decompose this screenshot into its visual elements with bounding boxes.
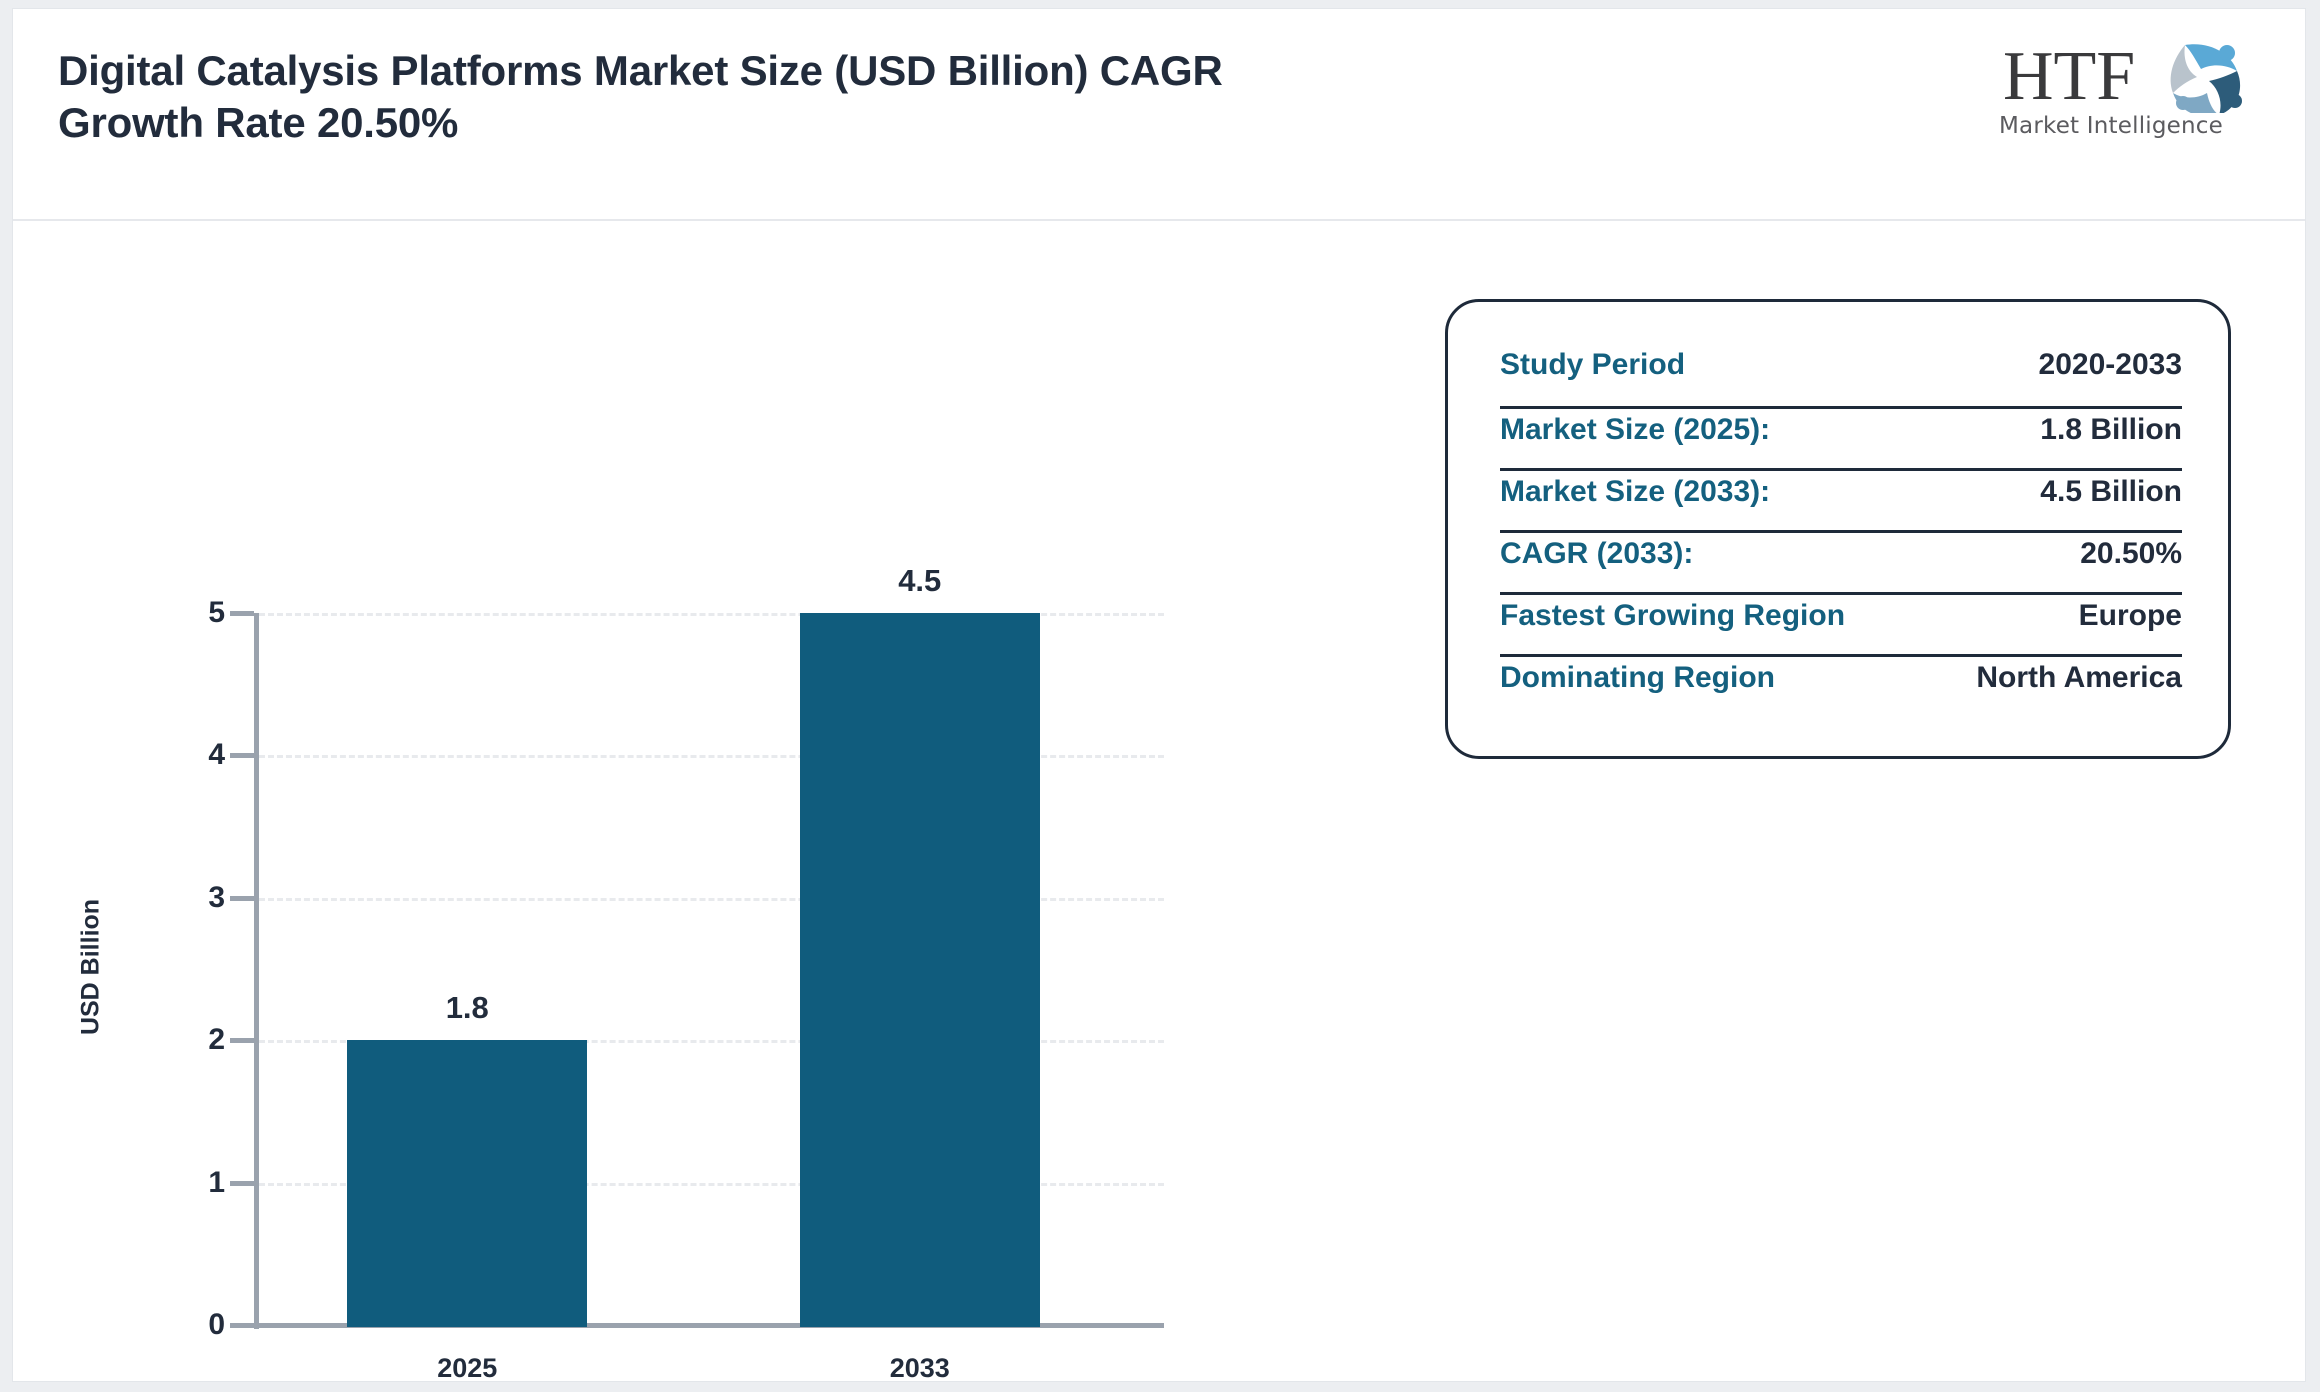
- x-tick-label: 2025: [347, 1353, 587, 1384]
- table-row: Market Size (2033):4.5 Billion: [1500, 468, 2182, 530]
- table-row: Fastest Growing RegionEurope: [1500, 592, 2182, 654]
- row-label: Fastest Growing Region: [1500, 599, 1845, 633]
- row-label: Market Size (2025):: [1500, 413, 1770, 447]
- y-tick-mark: [230, 1323, 254, 1328]
- htf-logo-icon: HTF: [1999, 35, 2259, 113]
- table-row: Market Size (2025):1.8 Billion: [1500, 406, 2182, 468]
- row-value: Europe: [2079, 599, 2182, 633]
- table-row: CAGR (2033):20.50%: [1500, 530, 2182, 592]
- table-row: Dominating RegionNorth America: [1500, 654, 2182, 716]
- y-tick-label: 3: [165, 881, 225, 915]
- header: Digital Catalysis Platforms Market Size …: [13, 9, 2305, 219]
- y-axis-title: USD Billion: [77, 899, 106, 1035]
- bar[interactable]: [800, 613, 1040, 1327]
- x-tick-label: 2033: [800, 1353, 1040, 1384]
- bar-chart: 012345 USD Billion 1.84.5 20252033: [13, 221, 1413, 1381]
- y-tick-label: 2: [165, 1023, 225, 1057]
- bar[interactable]: [347, 1040, 587, 1327]
- y-axis-spine: [254, 613, 259, 1329]
- y-tick-mark: [230, 753, 254, 758]
- row-value: 1.8 Billion: [2040, 413, 2182, 447]
- table-row: Study Period2020-2033: [1500, 344, 2182, 406]
- row-label: Dominating Region: [1500, 661, 1775, 695]
- row-label: Study Period: [1500, 348, 1685, 382]
- bar-value-label: 1.8: [347, 990, 587, 1026]
- row-label: CAGR (2033):: [1500, 537, 1693, 571]
- y-tick-mark: [230, 1181, 254, 1186]
- brand-logo: HTF Market Intelligence: [1999, 35, 2259, 145]
- y-tick-label: 5: [165, 596, 225, 630]
- row-value: 4.5 Billion: [2040, 475, 2182, 509]
- y-tick-label: 1: [165, 1166, 225, 1200]
- bar-value-label: 4.5: [800, 563, 1040, 599]
- row-value: North America: [1976, 661, 2182, 695]
- svg-text:HTF: HTF: [2003, 38, 2135, 113]
- page-title: Digital Catalysis Platforms Market Size …: [58, 45, 1358, 149]
- row-label: Market Size (2033):: [1500, 475, 1770, 509]
- row-value: 20.50%: [2080, 537, 2182, 571]
- y-tick-mark: [230, 896, 254, 901]
- y-tick-label: 0: [165, 1308, 225, 1342]
- logo-tagline: Market Intelligence: [1999, 113, 2259, 139]
- market-summary-table: Study Period2020-2033Market Size (2025):…: [1500, 344, 2182, 716]
- y-tick-label: 4: [165, 738, 225, 772]
- y-tick-mark: [230, 611, 254, 616]
- market-summary-panel: Study Period2020-2033Market Size (2025):…: [1445, 299, 2231, 759]
- row-value: 2020-2033: [2039, 348, 2182, 382]
- y-tick-mark: [230, 1038, 254, 1043]
- page-card: Digital Catalysis Platforms Market Size …: [12, 8, 2306, 1382]
